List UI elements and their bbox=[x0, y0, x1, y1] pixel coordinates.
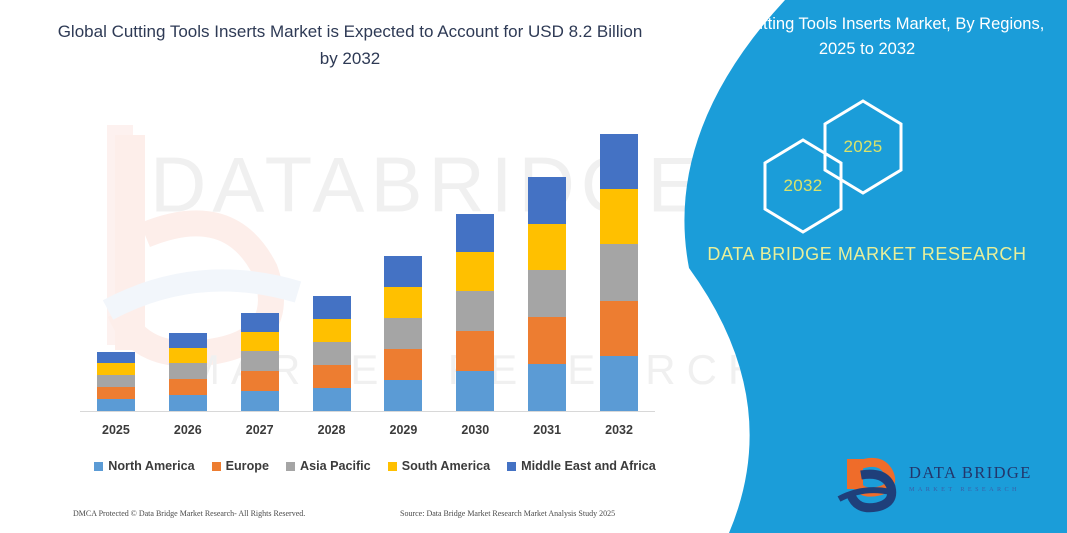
x-axis-label-2028: 2028 bbox=[296, 423, 368, 437]
bar-segment bbox=[313, 296, 351, 319]
bar-segment bbox=[456, 371, 494, 412]
bar-column-2032 bbox=[583, 100, 655, 412]
bar-column-2029 bbox=[368, 100, 440, 412]
bar-segment bbox=[313, 365, 351, 388]
legend-item[interactable]: South America bbox=[388, 459, 490, 473]
bar-segment bbox=[600, 189, 638, 244]
bar-segment bbox=[241, 371, 279, 391]
x-axis-label-2032: 2032 bbox=[583, 423, 655, 437]
legend-label: Asia Pacific bbox=[300, 459, 371, 473]
bar-column-2025 bbox=[80, 100, 152, 412]
legend-swatch-icon bbox=[388, 462, 397, 471]
x-axis-label-2025: 2025 bbox=[80, 423, 152, 437]
bar-segment bbox=[528, 364, 566, 412]
bar-segment bbox=[169, 363, 207, 379]
logo-subtitle: MARKET RESEARCH bbox=[909, 486, 1032, 493]
stacked-bar bbox=[313, 296, 351, 412]
legend-swatch-icon bbox=[507, 462, 516, 471]
logo-title: DATA BRIDGE bbox=[909, 463, 1032, 483]
bar-segment bbox=[528, 317, 566, 364]
bar-segment bbox=[169, 395, 207, 412]
bar-segment bbox=[456, 291, 494, 331]
data-bridge-b-mark-icon bbox=[837, 455, 905, 513]
bar-segment bbox=[600, 301, 638, 356]
legend-label: Europe bbox=[226, 459, 269, 473]
bar-segment bbox=[313, 319, 351, 342]
legend-swatch-icon bbox=[94, 462, 103, 471]
infographic-canvas: DATABRIDGE MARKET RESEARCH Global Cuttin… bbox=[0, 0, 1067, 533]
stacked-bar bbox=[600, 134, 638, 412]
stacked-bar bbox=[456, 214, 494, 412]
bar-segment bbox=[600, 356, 638, 412]
bar-segment bbox=[384, 380, 422, 412]
stacked-bar bbox=[97, 352, 135, 412]
data-bridge-logo: DATA BRIDGE MARKET RESEARCH bbox=[837, 455, 1052, 517]
stacked-bar bbox=[169, 333, 207, 412]
x-axis-label-2030: 2030 bbox=[439, 423, 511, 437]
bar-column-2030 bbox=[439, 100, 511, 412]
bar-segment bbox=[528, 270, 566, 317]
legend-item[interactable]: North America bbox=[94, 459, 194, 473]
hexagon-2032-label: 2032 bbox=[757, 136, 849, 236]
legend-item[interactable]: Asia Pacific bbox=[286, 459, 371, 473]
x-axis-label-2027: 2027 bbox=[224, 423, 296, 437]
bar-column-2026 bbox=[152, 100, 224, 412]
bar-segment bbox=[528, 177, 566, 224]
bar-segment bbox=[600, 244, 638, 301]
bar-segment bbox=[384, 349, 422, 380]
bar-column-2028 bbox=[296, 100, 368, 412]
x-axis-line bbox=[80, 411, 655, 412]
stacked-bar bbox=[384, 256, 422, 412]
footer-copyright: DMCA Protected © Data Bridge Market Rese… bbox=[73, 509, 305, 518]
bar-segment bbox=[528, 224, 566, 270]
bar-segment bbox=[241, 313, 279, 332]
legend-item[interactable]: Middle East and Africa bbox=[507, 459, 656, 473]
bar-segment bbox=[97, 387, 135, 399]
bar-segment bbox=[169, 348, 207, 363]
hexagon-2032: 2032 bbox=[757, 136, 849, 236]
bar-segment bbox=[241, 332, 279, 351]
bar-segment bbox=[384, 318, 422, 349]
bar-segment bbox=[313, 388, 351, 412]
bar-segment bbox=[456, 252, 494, 291]
bar-segment bbox=[169, 333, 207, 348]
brand-panel: Global Cutting Tools Inserts Market, By … bbox=[667, 0, 1067, 533]
bar-segment bbox=[384, 256, 422, 287]
bar-column-2031 bbox=[511, 100, 583, 412]
bar-segment bbox=[241, 391, 279, 412]
legend-swatch-icon bbox=[212, 462, 221, 471]
bar-segment bbox=[313, 342, 351, 365]
bar-segment bbox=[169, 379, 207, 395]
bar-segment bbox=[456, 214, 494, 252]
footer: DMCA Protected © Data Bridge Market Rese… bbox=[0, 505, 700, 527]
stacked-bar bbox=[241, 313, 279, 412]
panel-brand-name: DATA BRIDGE MARKET RESEARCH bbox=[687, 240, 1047, 268]
legend-item[interactable]: Europe bbox=[212, 459, 269, 473]
x-axis-label-2026: 2026 bbox=[152, 423, 224, 437]
bar-segment bbox=[456, 331, 494, 371]
x-axis-label-2031: 2031 bbox=[511, 423, 583, 437]
bar-chart-plot-area bbox=[80, 100, 655, 412]
legend-swatch-icon bbox=[286, 462, 295, 471]
bar-segment bbox=[384, 287, 422, 318]
bar-segment bbox=[97, 363, 135, 375]
chart-title: Global Cutting Tools Inserts Market is E… bbox=[55, 18, 645, 72]
stacked-bar bbox=[528, 177, 566, 412]
panel-title: Global Cutting Tools Inserts Market, By … bbox=[687, 12, 1047, 62]
bar-segment bbox=[97, 352, 135, 363]
footer-source: Source: Data Bridge Market Research Mark… bbox=[400, 509, 615, 518]
bar-segment bbox=[600, 134, 638, 189]
legend-label: Middle East and Africa bbox=[521, 459, 656, 473]
chart-panel: DATABRIDGE MARKET RESEARCH Global Cuttin… bbox=[0, 0, 700, 533]
legend-label: South America bbox=[402, 459, 490, 473]
legend-label: North America bbox=[108, 459, 194, 473]
x-axis-labels: 20252026202720282029203020312032 bbox=[80, 418, 655, 442]
x-axis-label-2029: 2029 bbox=[368, 423, 440, 437]
bar-column-2027 bbox=[224, 100, 296, 412]
chart-legend: North AmericaEuropeAsia PacificSouth Ame… bbox=[80, 455, 670, 477]
bar-segment bbox=[97, 375, 135, 387]
bar-segment bbox=[241, 351, 279, 371]
